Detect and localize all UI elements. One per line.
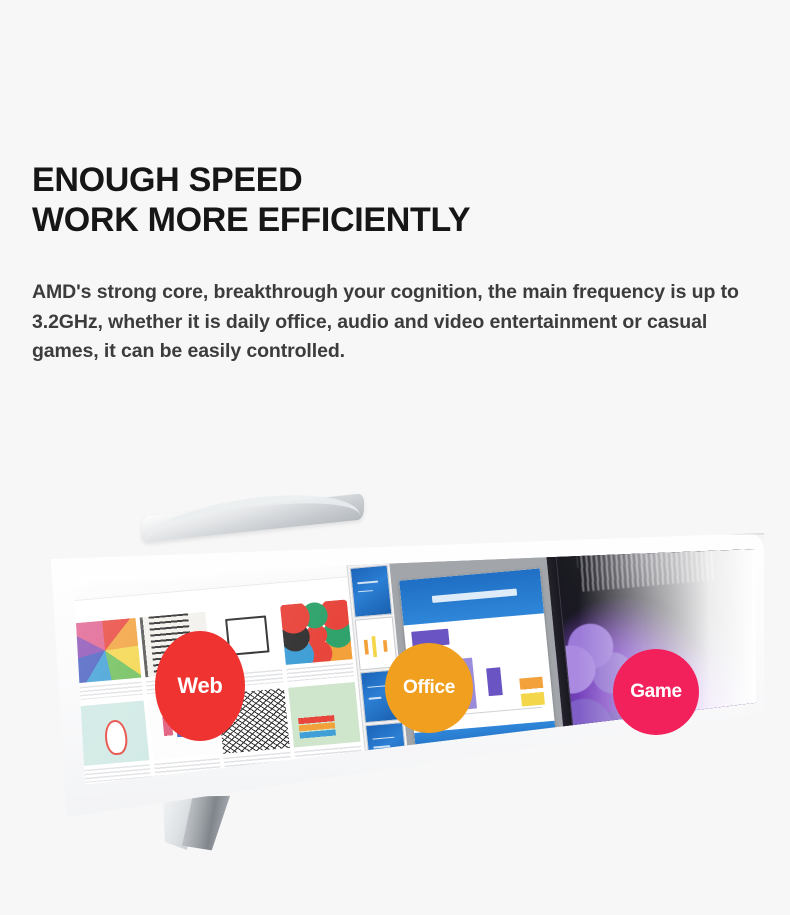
taskbar-icon[interactable] (394, 781, 399, 786)
thumbnail-caption (75, 682, 143, 700)
badge-game[interactable]: Game (613, 649, 699, 735)
monitor-stand-base (142, 505, 364, 535)
slide-text-line (358, 590, 373, 593)
slide-thumbnail[interactable] (355, 617, 398, 670)
slide-text-line (372, 736, 394, 739)
thumbnail-image (77, 700, 149, 765)
slide-text-line (368, 697, 382, 700)
taskbar-icon[interactable] (380, 782, 385, 787)
bookmark-item[interactable] (92, 549, 109, 552)
thumbnail-image (288, 682, 360, 747)
result-card[interactable] (280, 599, 354, 683)
slide-thumbnail[interactable] (350, 564, 393, 617)
hero-copy-block: ENOUGH SPEED WORK MORE EFFICIENTLY AMD's… (32, 160, 762, 367)
badge-office[interactable]: Office (385, 643, 473, 733)
nav-item[interactable] (119, 552, 131, 557)
bookmark-item[interactable] (79, 549, 90, 553)
result-card[interactable] (77, 700, 151, 784)
nav-item[interactable] (133, 550, 153, 556)
thumbnail-image (280, 599, 352, 664)
slide-text-line (357, 581, 379, 584)
headline-line-2: WORK MORE EFFICIENTLY (32, 200, 762, 240)
taskbar-icon[interactable] (387, 782, 392, 787)
thumbnail-image (70, 618, 141, 683)
bookmark-item[interactable] (111, 549, 124, 550)
body-paragraph: AMD's strong core, breakthrough your cog… (32, 278, 758, 367)
result-card[interactable] (70, 618, 143, 702)
slide-chart (364, 635, 389, 658)
slide-header-band (399, 569, 545, 626)
badge-web[interactable]: Web (155, 631, 245, 741)
slide-chart-legend (520, 677, 545, 707)
game-bottom-taskbar[interactable] (567, 739, 756, 778)
page-title: ENOUGH SPEED WORK MORE EFFICIENTLY (32, 160, 762, 240)
headline-line-1: ENOUGH SPEED (32, 160, 762, 200)
thumbnail-caption (287, 663, 355, 681)
taskbar-icon[interactable] (373, 783, 378, 788)
bookmark-item[interactable] (70, 549, 77, 554)
slide-title-text (432, 589, 517, 603)
